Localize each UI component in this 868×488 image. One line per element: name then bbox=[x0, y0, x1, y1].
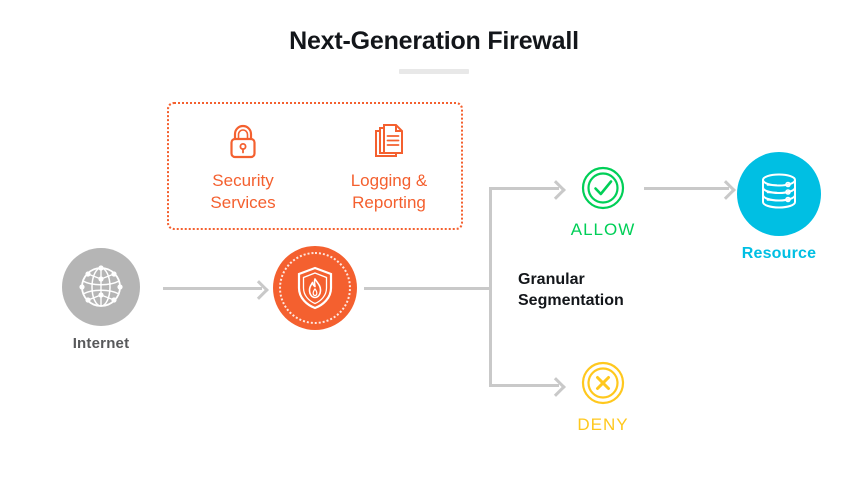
granular-segmentation-label: Granular Segmentation bbox=[518, 269, 624, 311]
security-services-box: Security Services Logging & Reporting bbox=[167, 102, 463, 230]
branch-trunk-line bbox=[489, 188, 492, 387]
node-label-resource: Resource bbox=[735, 245, 823, 263]
resource-circle bbox=[737, 152, 821, 236]
internet-circle bbox=[62, 248, 140, 326]
allow-icon-wrap bbox=[560, 165, 646, 211]
node-internet: Internet bbox=[43, 248, 159, 352]
firewall-dotted-ring bbox=[279, 252, 351, 324]
node-deny: DENY bbox=[560, 360, 646, 435]
arrowhead-icon bbox=[249, 280, 269, 300]
node-label-allow: ALLOW bbox=[560, 220, 646, 240]
check-circle-icon bbox=[580, 165, 626, 211]
database-icon bbox=[755, 169, 803, 219]
node-firewall bbox=[272, 246, 358, 330]
firewall-circle bbox=[273, 246, 357, 330]
node-label-internet: Internet bbox=[43, 335, 159, 352]
arrowhead-icon bbox=[716, 180, 736, 200]
node-allow: ALLOW bbox=[560, 165, 646, 240]
diagram-canvas: Next-Generation Firewall Security Servic… bbox=[0, 0, 868, 488]
globe-network-icon bbox=[76, 262, 126, 312]
x-circle-icon bbox=[580, 360, 626, 406]
connector-line bbox=[163, 287, 262, 290]
page-title: Next-Generation Firewall bbox=[0, 27, 868, 56]
document-stack-icon bbox=[327, 120, 451, 164]
service-label: Security Services bbox=[181, 170, 305, 214]
node-label-deny: DENY bbox=[560, 415, 646, 435]
node-resource: Resource bbox=[735, 152, 823, 263]
service-label: Logging & Reporting bbox=[327, 170, 451, 214]
connector-line bbox=[364, 287, 492, 290]
service-logging-reporting: Logging & Reporting bbox=[327, 120, 451, 214]
padlock-icon bbox=[181, 120, 305, 164]
service-security-services: Security Services bbox=[181, 120, 305, 214]
deny-icon-wrap bbox=[560, 360, 646, 406]
title-divider bbox=[399, 69, 469, 74]
